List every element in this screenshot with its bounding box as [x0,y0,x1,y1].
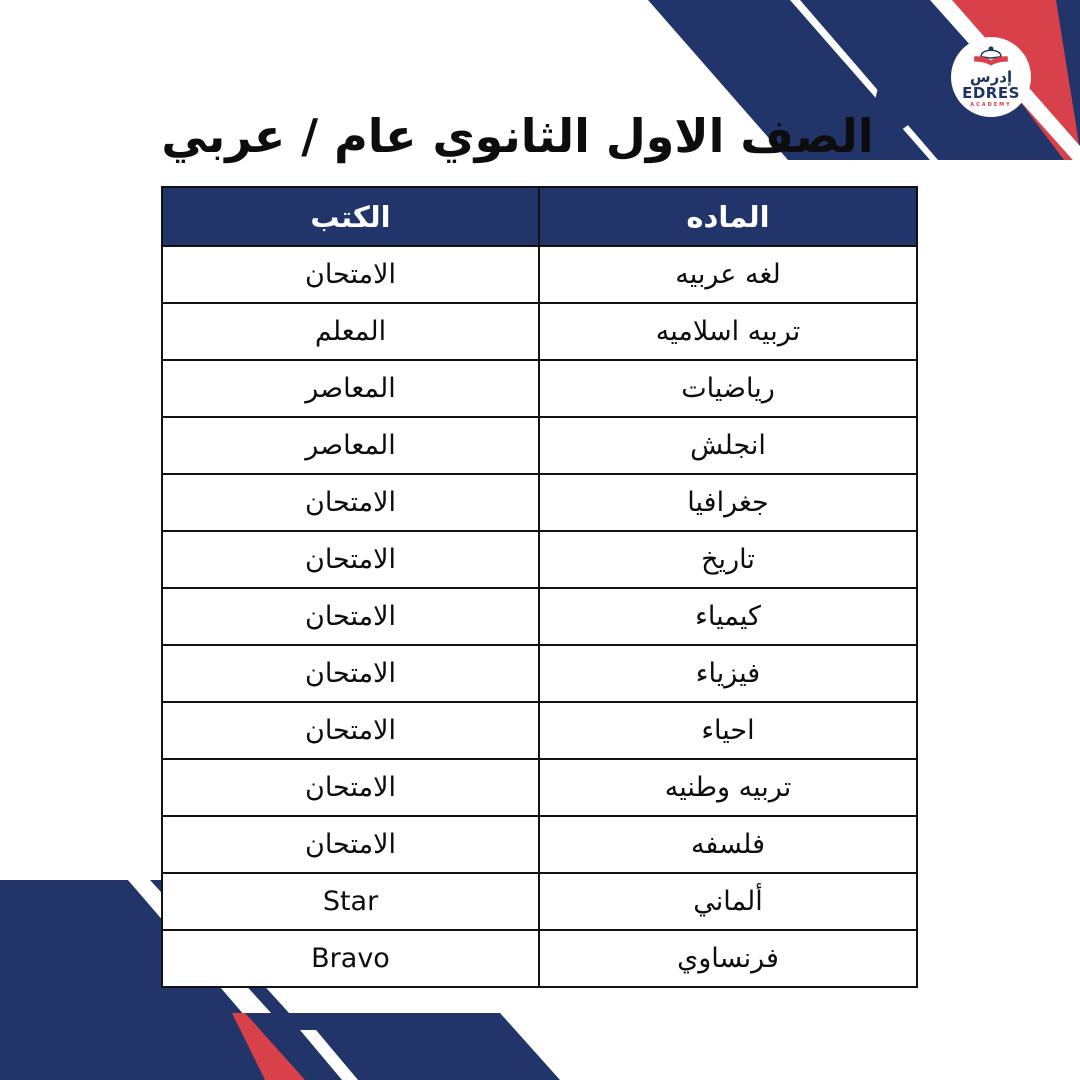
logo-badge[interactable]: إدرس EDRES ACADEMY [951,37,1031,117]
table-row: ألمانيStar [162,873,917,930]
cell-subject: لغه عربيه [539,246,917,303]
cell-book: الامتحان [162,474,539,531]
cell-subject: فيزياء [539,645,917,702]
cell-subject: تربيه وطنيه [539,759,917,816]
page-title-main: الصف الاول الثانوي عام / [285,109,873,163]
table-row: فلسفهالامتحان [162,816,917,873]
bottom-left-navy-parallelogram [245,1013,560,1080]
cell-book: الامتحان [162,816,539,873]
bottom-left-red-triangle [232,1013,360,1080]
subjects-table-container: الماده الكتب لغه عربيهالامتحانتربيه اسلا… [163,186,918,988]
table-row: انجلشالمعاصر [162,417,917,474]
cell-book: الامتحان [162,531,539,588]
subjects-table: الماده الكتب لغه عربيهالامتحانتربيه اسلا… [161,186,918,988]
cell-book: الامتحان [162,645,539,702]
cell-book: الامتحان [162,759,539,816]
logo-arabic: إدرس [962,70,1020,85]
table-row: تربيه اسلاميهالمعلم [162,303,917,360]
table-row: تربيه وطنيهالامتحان [162,759,917,816]
column-header-subject: الماده [539,187,917,246]
table-row: فيزياءالامتحان [162,645,917,702]
table-row: تاريخالامتحان [162,531,917,588]
bottom-left-navy-triangle [0,880,128,1080]
cell-subject: كيمياء [539,588,917,645]
table-row: كيمياءالامتحان [162,588,917,645]
table-body: لغه عربيهالامتحانتربيه اسلاميهالمعلمرياض… [162,246,917,987]
logo-subtitle: ACADEMY [962,103,1020,108]
table-row: لغه عربيهالامتحان [162,246,917,303]
cell-book: Bravo [162,930,539,987]
cell-book: المعاصر [162,360,539,417]
bottom-left-navy-stripe-2 [316,1030,372,1080]
cell-subject: تربيه اسلاميه [539,303,917,360]
table-header-row: الماده الكتب [162,187,917,246]
cell-book: Star [162,873,539,930]
cell-subject: انجلش [539,417,917,474]
table-row: فرنساويBravo [162,930,917,987]
bottom-left-white-stripe-2 [300,1030,360,1080]
logo-latin: EDRES [962,86,1020,101]
cell-subject: ألماني [539,873,917,930]
cell-subject: رياضيات [539,360,917,417]
cell-subject: احياء [539,702,917,759]
cell-book: المعلم [162,303,539,360]
cell-subject: تاريخ [539,531,917,588]
logo-book-icon [973,46,1009,66]
table-header: الماده الكتب [162,187,917,246]
poster-canvas: إدرس EDRES ACADEMY إدرس EDRES ACADEMY ال… [0,0,1080,1080]
page-title: الصف الاول الثانوي عام / عربي [0,109,1080,163]
table-row: احياءالامتحان [162,702,917,759]
cell-book: الامتحان [162,588,539,645]
cell-subject: فرنساوي [539,930,917,987]
table-row: رياضياتالمعاصر [162,360,917,417]
table-row: جغرافياالامتحان [162,474,917,531]
page-title-accent: عربي [161,109,285,163]
cell-subject: فلسفه [539,816,917,873]
cell-subject: جغرافيا [539,474,917,531]
cell-book: المعاصر [162,417,539,474]
column-header-book: الكتب [162,187,539,246]
cell-book: الامتحان [162,246,539,303]
cell-book: الامتحان [162,702,539,759]
